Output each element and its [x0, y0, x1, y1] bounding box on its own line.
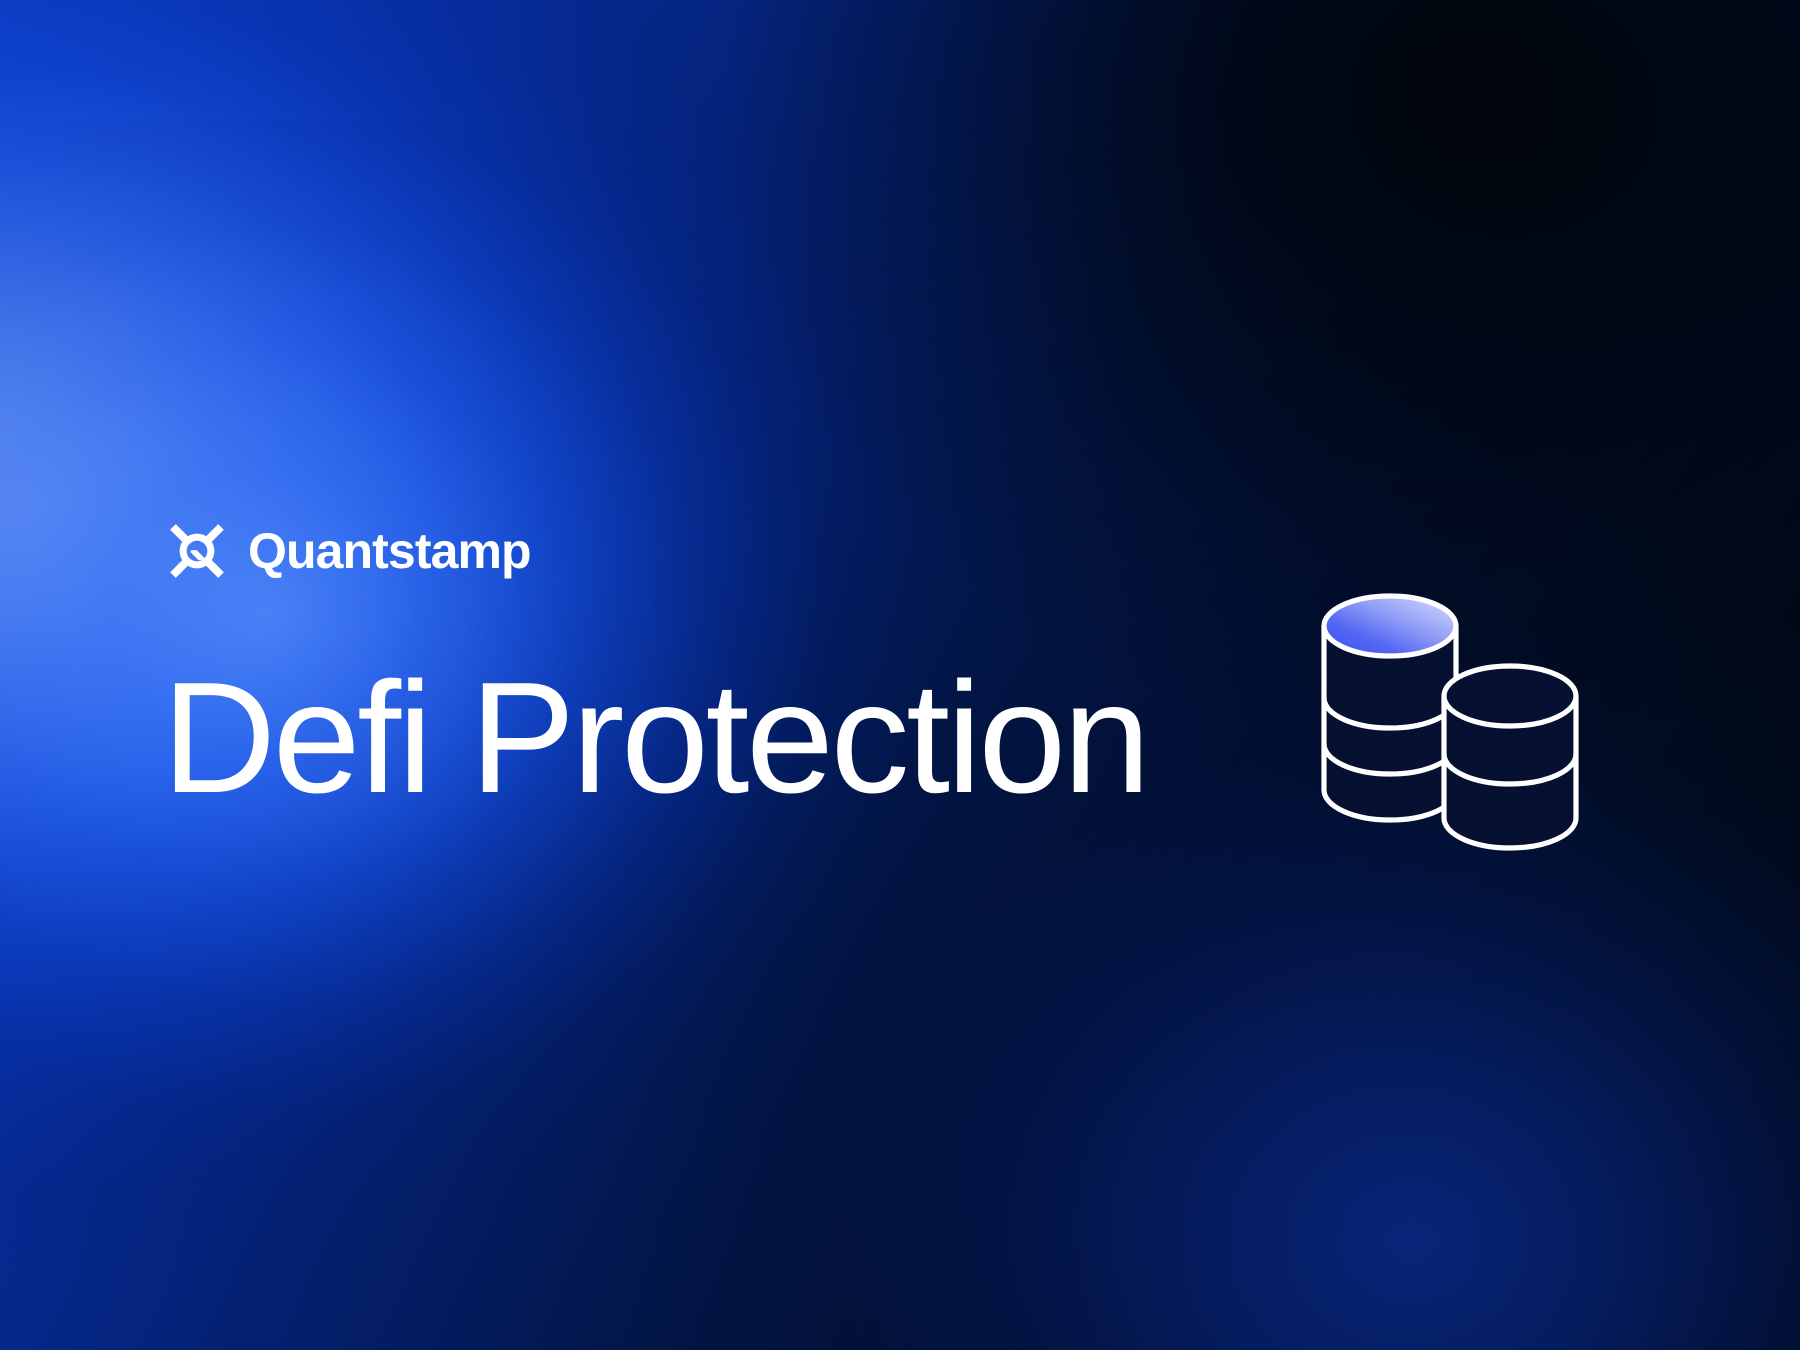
page-title: Defi Protection — [162, 659, 1147, 817]
brand-lockup: Quantstamp — [168, 519, 531, 583]
brand-wordmark: Quantstamp — [248, 526, 531, 576]
quantstamp-q-crosshair-icon — [168, 522, 226, 580]
hero-content: Quantstamp Defi Protection — [168, 0, 1268, 1350]
hero-banner: Quantstamp Defi Protection — [0, 0, 1800, 1350]
stacked-database-cylinders-icon — [1316, 592, 1588, 856]
